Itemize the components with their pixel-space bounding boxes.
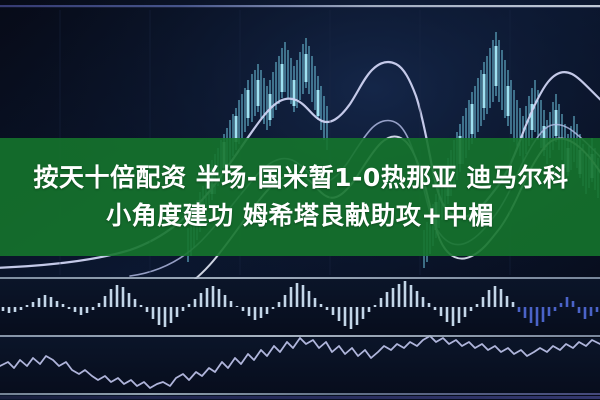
headline-line-2: 小角度建功 姆希塔良献助攻+中楣	[0, 197, 600, 235]
headline-line-1: 按天十倍配资 半场-国米暂1-0热那亚 迪马尔科	[0, 159, 600, 197]
screenshot-root: 按天十倍配资 半场-国米暂1-0热那亚 迪马尔科 小角度建功 姆希塔良献助攻+中…	[0, 0, 600, 400]
green-headline-banner: 按天十倍配资 半场-国米暂1-0热那亚 迪马尔科 小角度建功 姆希塔良献助攻+中…	[0, 138, 600, 256]
headline-text-block: 按天十倍配资 半场-国米暂1-0热那亚 迪马尔科 小角度建功 姆希塔良献助攻+中…	[0, 159, 600, 235]
